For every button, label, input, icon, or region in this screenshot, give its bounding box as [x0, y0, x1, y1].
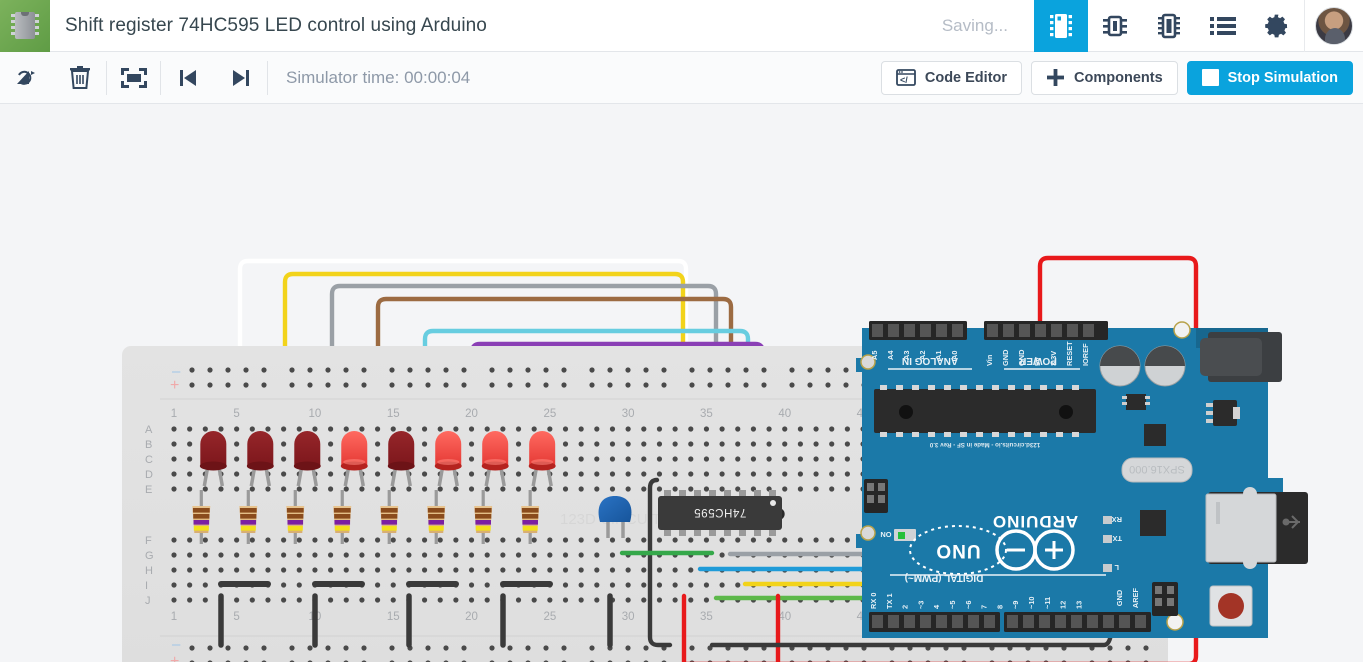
breadboard-hole: [250, 426, 255, 431]
breadboard-hole: [265, 486, 270, 491]
breadboard-hole: [547, 537, 552, 542]
breadboard-hole: [563, 597, 568, 602]
rotate-icon[interactable]: [0, 52, 53, 104]
pin-label-~10: ~10: [1027, 596, 1036, 609]
app-logo-chip-icon[interactable]: [0, 0, 50, 52]
breadboard-hole: [579, 486, 584, 491]
rail-hole: [407, 382, 412, 387]
column-number-1: 1: [171, 611, 177, 623]
breadboard-hole: [171, 471, 176, 476]
breadboard-hole: [704, 597, 709, 602]
breadboard-hole: [234, 486, 239, 491]
breadboard-hole: [265, 426, 270, 431]
breadboard-hole: [626, 486, 631, 491]
breadboard-hole: [281, 456, 286, 461]
breadboard-hole: [344, 597, 349, 602]
breadboard-hole: [344, 567, 349, 572]
breadboard-hole: [704, 426, 709, 431]
rail-hole: [225, 382, 230, 387]
breadboard-hole: [297, 552, 302, 557]
chip-view-icon[interactable]: [1034, 0, 1088, 52]
breadboard-hole: [391, 567, 396, 572]
breadboard-hole: [720, 456, 725, 461]
breadboard-hole: [453, 537, 458, 542]
breadboard-hole: [594, 567, 599, 572]
breadboard-hole: [485, 486, 490, 491]
breadboard-hole: [312, 552, 317, 557]
breadboard-hole: [203, 537, 208, 542]
stop-simulation-label: Stop Simulation: [1228, 70, 1338, 86]
rail-hole: [461, 367, 466, 372]
breadboard-hole: [203, 426, 208, 431]
rail-hole: [561, 645, 566, 650]
top-bar-icon-group: [1034, 0, 1363, 52]
power-header-title: POWER: [1018, 355, 1057, 366]
breadboard-hole: [171, 486, 176, 491]
rail-hole: [443, 367, 448, 372]
pin-label-~11: ~11: [1043, 597, 1052, 609]
breadboard-hole: [657, 426, 662, 431]
rail-hole: [325, 645, 330, 650]
breadboard-hole: [563, 567, 568, 572]
breadboard-hole: [422, 597, 427, 602]
column-number-35: 35: [700, 408, 713, 420]
breadboard-hole: [187, 441, 192, 446]
breadboard-hole: [469, 567, 474, 572]
breadboard-hole: [673, 567, 678, 572]
rail-hole: [843, 382, 848, 387]
breadboard-hole: [453, 567, 458, 572]
breadboard-hole: [171, 597, 176, 602]
rail-hole: [589, 645, 594, 650]
breadboard-hole: [406, 486, 411, 491]
breadboard-hole: [516, 552, 521, 557]
breadboard-hole: [845, 471, 850, 476]
rail-hole: [207, 367, 212, 372]
breadboard-hole: [265, 567, 270, 572]
pin-label-Vin: Vin: [985, 354, 994, 366]
rail-hole: [425, 367, 430, 372]
breadboard-hole: [500, 426, 505, 431]
breadboard-hole: [547, 552, 552, 557]
breadboard-hole: [469, 582, 474, 587]
components-label: Components: [1074, 70, 1163, 86]
breadboard-hole: [626, 582, 631, 587]
breadboard-hole: [688, 441, 693, 446]
rail-hole: [207, 382, 212, 387]
breadboard-hole: [469, 426, 474, 431]
delete-trash-icon[interactable]: [53, 52, 106, 104]
breadboard-hole: [829, 456, 834, 461]
gnd-pin-label: GND: [1115, 589, 1124, 606]
fit-to-screen-icon[interactable]: [107, 52, 160, 104]
breadboard-hole: [704, 582, 709, 587]
rail-plus-top: +: [170, 377, 179, 394]
rail-hole: [589, 382, 594, 387]
rail-hole: [289, 382, 294, 387]
breadboard-hole: [641, 567, 646, 572]
rail-hole: [789, 382, 794, 387]
rail-hole: [389, 645, 394, 650]
column-number-30: 30: [622, 611, 635, 623]
column-number-5: 5: [233, 408, 239, 420]
breadboard-hole: [297, 486, 302, 491]
breadboard-hole: [594, 441, 599, 446]
breadboard-hole: [610, 567, 615, 572]
breadboard-hole: [453, 552, 458, 557]
breadboard-hole: [250, 552, 255, 557]
stop-square-icon: [1202, 69, 1219, 86]
breadboard-hole: [453, 597, 458, 602]
user-avatar[interactable]: [1315, 7, 1353, 45]
rail-hole: [561, 382, 566, 387]
rail-hole: [261, 367, 266, 372]
breadboard-hole: [579, 597, 584, 602]
step-back-icon[interactable]: [161, 52, 214, 104]
breadboard-hole: [469, 441, 474, 446]
breadboard-hole: [751, 426, 756, 431]
breadboard-hole: [281, 486, 286, 491]
rail-hole: [307, 645, 312, 650]
breadboard-hole: [359, 486, 364, 491]
column-number-25: 25: [543, 611, 556, 623]
breadboard-hole: [391, 426, 396, 431]
column-number-15: 15: [387, 611, 400, 623]
rail-hole: [307, 382, 312, 387]
breadboard-hole: [688, 582, 693, 587]
breadboard-hole: [563, 582, 568, 587]
breadboard-hole: [422, 426, 427, 431]
breadboard-hole: [516, 567, 521, 572]
column-number-40: 40: [778, 611, 791, 623]
breadboard-hole: [250, 567, 255, 572]
save-status: Saving...: [942, 16, 1008, 36]
breadboard-hole: [516, 426, 521, 431]
breadboard-hole: [673, 537, 678, 542]
rail-hole: [589, 367, 594, 372]
rail-hole: [561, 367, 566, 372]
breadboard-hole: [218, 567, 223, 572]
breadboard-hole: [798, 441, 803, 446]
rail-hole: [707, 382, 712, 387]
rail-hole: [443, 645, 448, 650]
rail-hole: [507, 367, 512, 372]
breadboard-hole: [766, 441, 771, 446]
rail-hole: [525, 382, 530, 387]
breadboard-hole: [234, 552, 239, 557]
rail-hole: [189, 382, 194, 387]
breadboard-hole: [641, 537, 646, 542]
breadboard-hole: [265, 597, 270, 602]
breadboard-hole: [422, 552, 427, 557]
rail-minus-bottom: –: [172, 636, 181, 653]
breadboard-hole: [532, 537, 537, 542]
breadboard-hole: [798, 456, 803, 461]
component-view-icon[interactable]: [1088, 0, 1142, 52]
breadboard-hole: [563, 486, 568, 491]
breadboard-hole: [547, 426, 552, 431]
breadboard-hole: [359, 426, 364, 431]
rail-hole: [743, 367, 748, 372]
crystal-label: SPX16.000: [1129, 463, 1185, 475]
rail-hole: [189, 645, 194, 650]
breadboard-hole: [438, 552, 443, 557]
pin-label-GND: GND: [1001, 349, 1010, 366]
breadboard-hole: [469, 552, 474, 557]
pin-label-A5: A5: [870, 351, 879, 360]
breadboard-hole: [187, 456, 192, 461]
rail-hole: [707, 367, 712, 372]
breadboard-hole: [782, 426, 787, 431]
breadboard-hole: [845, 537, 850, 542]
breadboard-hole: [704, 441, 709, 446]
breadboard-hole: [312, 537, 317, 542]
breadboard-hole: [673, 456, 678, 461]
rail-hole: [761, 367, 766, 372]
breadboard-hole: [375, 567, 380, 572]
column-number-5: 5: [233, 611, 239, 623]
toolbar-actions: </ Code Editor Components Stop Simulatio…: [881, 61, 1363, 95]
breadboard-hole: [234, 426, 239, 431]
breadboard-hole: [359, 597, 364, 602]
breadboard-hole: [312, 567, 317, 572]
breadboard-hole: [641, 456, 646, 461]
breadboard-hole: [297, 567, 302, 572]
breadboard-hole: [626, 441, 631, 446]
breadboard-hole: [453, 486, 458, 491]
pin-label-~9: ~9: [1011, 601, 1020, 609]
column-number-30: 30: [622, 408, 635, 420]
breadboard-hole: [673, 471, 678, 476]
breadboard-hole: [688, 537, 693, 542]
breadboard-hole: [187, 552, 192, 557]
breadboard-hole: [359, 567, 364, 572]
aref-pin-label: AREF: [1131, 587, 1140, 608]
breadboard-hole: [532, 486, 537, 491]
breadboard-hole: [845, 456, 850, 461]
led-l-label: L: [1114, 563, 1119, 572]
row-label-A: A: [145, 424, 153, 436]
breadboard-hole: [688, 456, 693, 461]
breadboard-hole: [187, 597, 192, 602]
breadboard-hole: [720, 426, 725, 431]
rail-hole: [825, 367, 830, 372]
breadboard-hole: [657, 456, 662, 461]
breadboard-hole: [297, 537, 302, 542]
breadboard-hole: [297, 582, 302, 587]
breadboard-hole: [547, 597, 552, 602]
breadboard-hole: [344, 426, 349, 431]
breadboard-hole: [328, 441, 333, 446]
breadboard-hole: [735, 456, 740, 461]
breadboard-hole: [563, 552, 568, 557]
led-rx-label: RX: [1112, 515, 1122, 524]
breadboard-hole: [563, 456, 568, 461]
column-number-20: 20: [465, 611, 478, 623]
breadboard-hole: [579, 441, 584, 446]
rail-hole: [661, 382, 666, 387]
breadboard-hole: [720, 471, 725, 476]
breadboard-hole: [234, 567, 239, 572]
column-number-15: 15: [387, 408, 400, 420]
breadboard-hole: [516, 486, 521, 491]
list-view-icon[interactable]: [1196, 0, 1250, 52]
shift-register-ic[interactable]: 74HC595: [658, 490, 785, 536]
pin-label-7: 7: [980, 605, 989, 609]
rail-plus-bottom: +: [170, 653, 179, 662]
breadboard-hole: [766, 426, 771, 431]
rail-hole: [1107, 645, 1112, 650]
rail-hole: [507, 645, 512, 650]
breadboard-hole: [673, 582, 678, 587]
breadboard-hole: [344, 486, 349, 491]
breadboard-hole: [171, 426, 176, 431]
pin-label-TX 1: TX 1: [885, 593, 894, 609]
breadboard-hole: [563, 537, 568, 542]
stop-simulation-button[interactable]: Stop Simulation: [1187, 61, 1353, 95]
breadboard-hole: [579, 456, 584, 461]
breadboard-hole: [798, 486, 803, 491]
breadboard-hole: [438, 597, 443, 602]
rail-hole: [207, 645, 212, 650]
breadboard-hole: [673, 426, 678, 431]
code-editor-label: Code Editor: [925, 70, 1007, 86]
breadboard-hole: [626, 471, 631, 476]
breadboard-hole: [171, 552, 176, 557]
rail-hole: [225, 645, 230, 650]
settings-gear-icon[interactable]: [1250, 0, 1304, 52]
breadboard-hole: [469, 486, 474, 491]
breadboard-hole: [328, 456, 333, 461]
arduino-uno-board[interactable]: A5A4A3A2A1A0 VinGNDGND5V3.3VRESETIOREF A…: [856, 321, 1308, 638]
breadboard-hole: [187, 537, 192, 542]
pin-label-A4: A4: [886, 350, 895, 360]
breadboard-hole: [438, 567, 443, 572]
breadboard-hole: [375, 456, 380, 461]
column-number-25: 25: [543, 408, 556, 420]
rail-hole: [725, 367, 730, 372]
breadboard-hole: [391, 597, 396, 602]
simulator-time: Simulator time: 00:00:04: [286, 68, 470, 88]
breadboard-hole: [657, 471, 662, 476]
toolbar-divider: [267, 61, 268, 95]
step-forward-icon[interactable]: [214, 52, 267, 104]
breadboard-hole: [500, 552, 505, 557]
breadboard-hole: [657, 582, 662, 587]
breadboard-hole: [203, 552, 208, 557]
rail-hole: [325, 382, 330, 387]
breadboard-hole: [547, 567, 552, 572]
breadboard-hole: [735, 471, 740, 476]
breadboard-hole: [594, 552, 599, 557]
breadboard-hole: [422, 471, 427, 476]
breadboard-hole: [735, 537, 740, 542]
breadboard-hole: [391, 486, 396, 491]
breadboard-hole: [594, 426, 599, 431]
row-label-H: H: [145, 565, 153, 577]
rail-hole: [643, 367, 648, 372]
breadboard-hole: [406, 537, 411, 542]
breadboard-hole: [579, 537, 584, 542]
breadboard-hole: [641, 486, 646, 491]
breadboard-hole: [297, 597, 302, 602]
breadboard-hole: [250, 537, 255, 542]
breadboard-hole: [422, 537, 427, 542]
column-number-20: 20: [465, 408, 478, 420]
breadboard-hole: [704, 471, 709, 476]
breadboard-hole: [594, 597, 599, 602]
breadboard-hole: [829, 537, 834, 542]
breadboard-hole: [218, 426, 223, 431]
rail-hole: [661, 367, 666, 372]
breadboard-hole: [579, 567, 584, 572]
breadboard-hole: [704, 486, 709, 491]
breadboard-hole: [203, 597, 208, 602]
breadboard-hole: [187, 567, 192, 572]
breadboard-hole: [234, 441, 239, 446]
breadboard-hole: [532, 426, 537, 431]
breadboard-hole: [500, 567, 505, 572]
breadboard-hole: [375, 597, 380, 602]
analog-header-title: ANALOG IN: [902, 355, 958, 366]
breadboard-hole: [516, 441, 521, 446]
board-view-icon[interactable]: [1142, 0, 1196, 52]
rail-hole: [361, 645, 366, 650]
breadboard-hole: [610, 552, 615, 557]
breadboard-hole: [375, 471, 380, 476]
code-editor-button[interactable]: </ Code Editor: [881, 61, 1022, 95]
components-button[interactable]: Components: [1031, 61, 1178, 95]
breadboard-hole: [265, 537, 270, 542]
breadboard-hole: [720, 537, 725, 542]
breadboard-hole: [187, 582, 192, 587]
breadboard-hole: [610, 456, 615, 461]
on-led-label: ON: [880, 530, 891, 539]
breadboard-hole: [453, 426, 458, 431]
circuit-svg: – + – + ABCDEFGHIJ 115510101515202025253…: [0, 104, 1363, 662]
breadboard-hole: [187, 471, 192, 476]
breadboard-hole: [594, 471, 599, 476]
breadboard-hole: [657, 567, 662, 572]
rail-hole: [407, 367, 412, 372]
column-number-40: 40: [778, 408, 791, 420]
pin-label-~5: ~5: [948, 601, 957, 609]
row-label-D: D: [145, 469, 153, 481]
rail-hole: [243, 382, 248, 387]
breadboard-hole: [626, 426, 631, 431]
rail-hole: [543, 382, 548, 387]
breadboard-hole: [391, 582, 396, 587]
rail-hole: [761, 382, 766, 387]
toolbar-divider: [1304, 0, 1305, 52]
rail-hole: [625, 367, 630, 372]
breadboard-hole: [704, 456, 709, 461]
breadboard-hole: [422, 486, 427, 491]
breadboard-hole: [735, 582, 740, 587]
breadboard-hole: [516, 597, 521, 602]
breadboard-hole: [171, 582, 176, 587]
breadboard-hole: [610, 426, 615, 431]
rail-hole: [807, 367, 812, 372]
rail-hole: [525, 645, 530, 650]
svg-text:</: </: [900, 75, 908, 85]
breadboard-hole: [234, 471, 239, 476]
rail-hole: [361, 367, 366, 372]
column-number-35: 35: [700, 611, 713, 623]
circuit-canvas[interactable]: – + – + ABCDEFGHIJ 115510101515202025253…: [0, 104, 1363, 662]
breadboard-hole: [720, 582, 725, 587]
breadboard-hole: [281, 426, 286, 431]
